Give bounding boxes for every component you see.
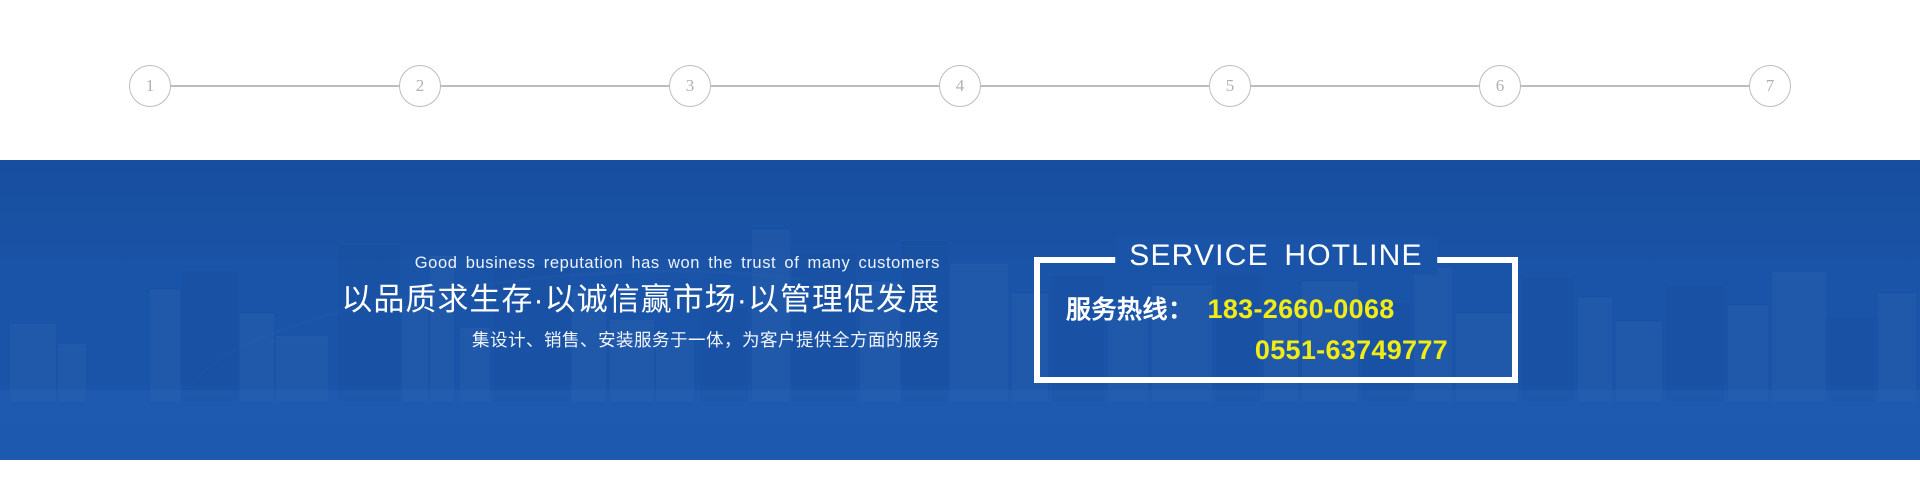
service-hotline-title: SERVICE HOTLINE: [1115, 237, 1437, 275]
road-foreground: [0, 390, 1920, 460]
hotline-number-list: 服务热线： 183-2660-0068 0551-63749777: [1040, 289, 1512, 370]
step-indicator: 1 2 3 4 5 6 7: [0, 0, 1920, 160]
promo-banner: Good business reputation has won the tru…: [0, 160, 1920, 460]
step-item-3[interactable]: 3: [669, 65, 711, 107]
slogan-subtitle: 集设计、销售、安装服务于一体，为客户提供全方面的服务: [300, 326, 940, 354]
step-item-7[interactable]: 7: [1749, 65, 1791, 107]
step-label: 6: [1496, 76, 1505, 95]
step-item-5[interactable]: 5: [1209, 65, 1251, 107]
slogan-english: Good business reputation has won the tru…: [300, 252, 940, 274]
slogan-block: Good business reputation has won the tru…: [300, 252, 940, 354]
step-label: 1: [146, 76, 155, 95]
step-label: 7: [1766, 76, 1775, 95]
step-label: 5: [1226, 76, 1235, 95]
hotline-label: 服务热线：: [1066, 290, 1194, 330]
step-item-6[interactable]: 6: [1479, 65, 1521, 107]
step-label: 3: [686, 76, 695, 95]
hotline-phone-secondary[interactable]: 0551-63749777: [1255, 330, 1448, 370]
hotline-phone-primary[interactable]: 183-2660-0068: [1208, 289, 1395, 329]
banner-page: 1 2 3 4 5 6 7: [0, 0, 1920, 500]
slogan-headline: 以品质求生存·以诚信赢市场·以管理促发展: [300, 274, 940, 326]
step-label: 4: [956, 76, 965, 95]
city-skyline-background: [0, 227, 1920, 402]
step-item-4[interactable]: 4: [939, 65, 981, 107]
step-label: 2: [416, 76, 425, 95]
step-item-1[interactable]: 1: [129, 65, 171, 107]
service-hotline-box: SERVICE HOTLINE 服务热线： 183-2660-0068 0551…: [1034, 257, 1518, 383]
hotline-row-secondary: 0551-63749777: [1066, 330, 1486, 370]
bottom-spacer: [0, 460, 1920, 500]
hotline-row-primary: 服务热线： 183-2660-0068: [1066, 289, 1486, 330]
step-item-2[interactable]: 2: [399, 65, 441, 107]
